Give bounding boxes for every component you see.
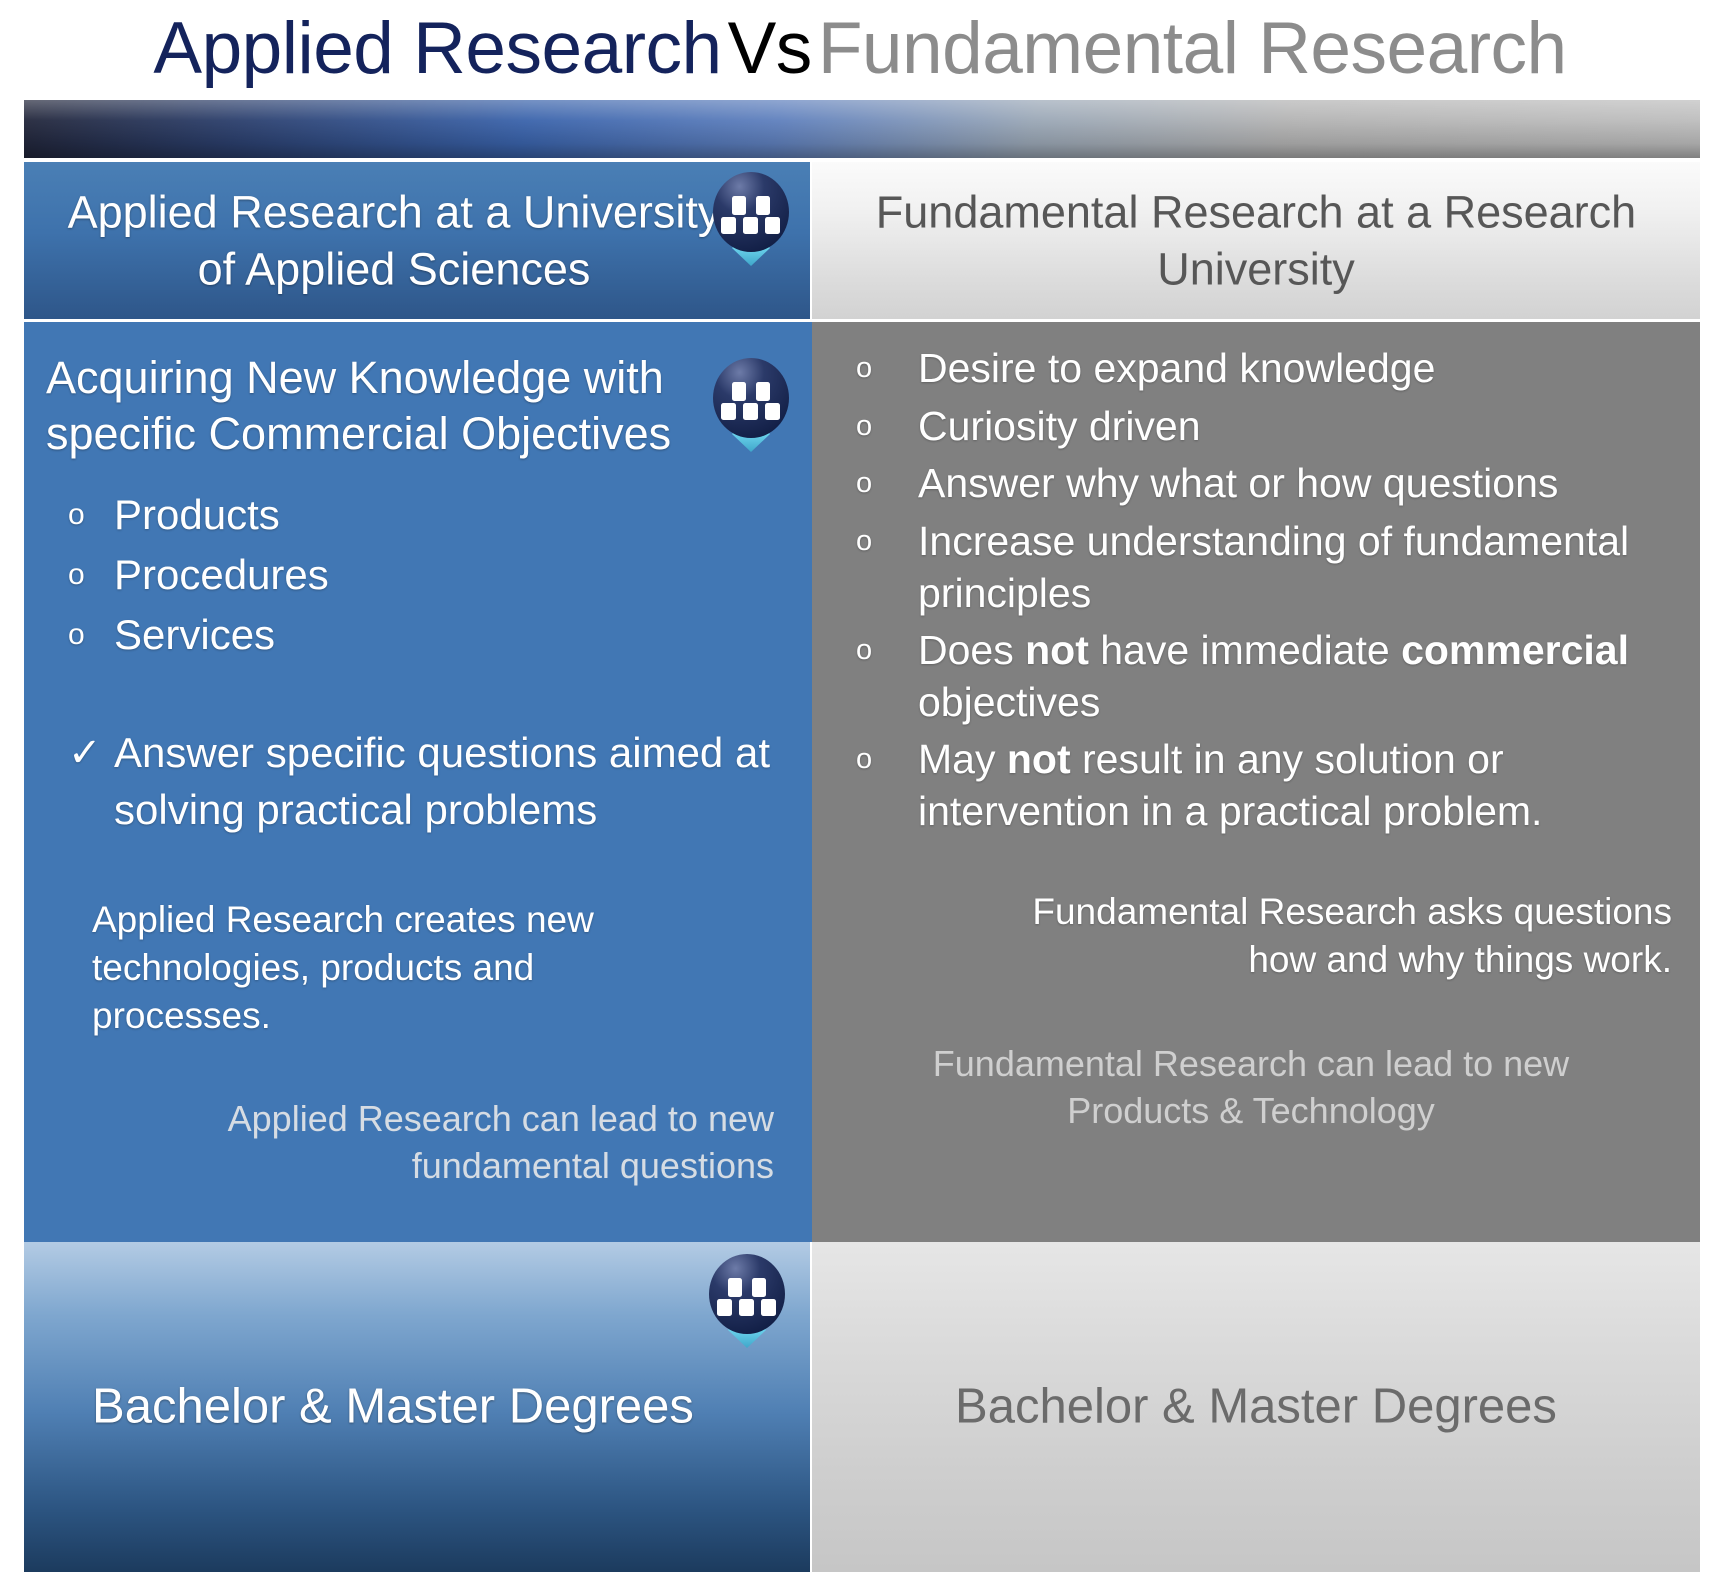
fundamental-research-bullet-list: oDesire to expand knowledgeoCuriosity dr… xyxy=(838,342,1684,838)
checkmark-icon: ✓ xyxy=(46,725,114,782)
applied-research-degrees-label: Bachelor & Master Degrees xyxy=(24,1378,810,1437)
applied-research-paragraph: Applied Research creates new technologie… xyxy=(46,896,792,1040)
fundamental-research-header-title: Fundamental Research at a Research Unive… xyxy=(812,183,1700,298)
list-item: oProducts xyxy=(46,486,792,544)
applied-research-header-panel: Applied Research at a University of Appl… xyxy=(24,162,810,319)
applied-research-body-panel: Acquiring New Knowledge with specific Co… xyxy=(24,322,810,1242)
bullet-circle-icon: o xyxy=(838,400,918,454)
list-item-label: Services xyxy=(114,606,792,664)
applied-research-footer-panel: Bachelor & Master Degrees xyxy=(24,1242,810,1572)
fundamental-research-tail-note: Fundamental Research can lead to new Pro… xyxy=(838,1040,1684,1135)
fundamental-research-header-panel: Fundamental Research at a Research Unive… xyxy=(812,162,1700,319)
fundamental-research-degrees-label: Bachelor & Master Degrees xyxy=(812,1378,1700,1437)
page-title: Applied Research Vs Fundamental Research xyxy=(0,0,1720,96)
list-item: oMay not result in any solution or inter… xyxy=(838,733,1684,838)
emphasis-text: not xyxy=(1007,736,1071,782)
applied-research-tail-note: Applied Research can lead to new fundame… xyxy=(46,1096,792,1190)
list-item: oProcedures xyxy=(46,546,792,604)
bullet-circle-icon: o xyxy=(46,606,114,663)
university-logo-icon xyxy=(712,358,790,458)
title-applied: Applied Research xyxy=(153,12,721,85)
plain-text: have immediate xyxy=(1089,627,1401,673)
bullet-circle-icon: o xyxy=(838,624,918,678)
list-item-label: May not result in any solution or interv… xyxy=(918,733,1684,838)
university-logo-icon xyxy=(712,172,790,272)
list-item-label: Answer specific questions aimed at solvi… xyxy=(114,725,792,838)
list-item: oIncrease understanding of fundamental p… xyxy=(838,515,1684,620)
list-item-label: Increase understanding of fundamental pr… xyxy=(918,515,1684,620)
list-item: oCuriosity driven xyxy=(838,400,1684,454)
applied-research-bullet-list: oProductsoProceduresoServices xyxy=(46,486,792,664)
title-fundamental: Fundamental Research xyxy=(818,12,1567,85)
list-item: oDesire to expand knowledge xyxy=(838,342,1684,396)
fundamental-research-body-panel: oDesire to expand knowledgeoCuriosity dr… xyxy=(812,322,1700,1242)
list-item-label: Desire to expand knowledge xyxy=(918,342,1684,394)
bullet-circle-icon: o xyxy=(838,342,918,396)
emphasis-text: commercial xyxy=(1401,627,1629,673)
plain-text: May xyxy=(918,736,1007,782)
list-item: oAnswer why what or how questions xyxy=(838,457,1684,511)
applied-research-check-list: ✓Answer specific questions aimed at solv… xyxy=(46,725,792,838)
bullet-circle-icon: o xyxy=(46,486,114,543)
fundamental-research-footer-panel: Bachelor & Master Degrees xyxy=(812,1242,1700,1572)
emphasis-text: not xyxy=(1025,627,1089,673)
applied-research-header-title: Applied Research at a University of Appl… xyxy=(24,183,810,298)
list-item-label: Curiosity driven xyxy=(918,400,1684,452)
plain-text: Does xyxy=(918,627,1025,673)
university-logo-icon xyxy=(708,1254,786,1354)
fundamental-research-paragraph: Fundamental Research asks questions how … xyxy=(838,888,1684,984)
list-item-label: Answer why what or how questions xyxy=(918,457,1684,509)
bullet-circle-icon: o xyxy=(46,546,114,603)
list-item-label: Does not have immediate commercial objec… xyxy=(918,624,1684,729)
bullet-circle-icon: o xyxy=(838,457,918,511)
bullet-circle-icon: o xyxy=(838,733,918,787)
bullet-circle-icon: o xyxy=(838,515,918,569)
decorative-gradient-band xyxy=(24,100,1700,158)
list-item: ✓Answer specific questions aimed at solv… xyxy=(46,725,792,838)
list-item: oServices xyxy=(46,606,792,664)
plain-text: objectives xyxy=(918,679,1100,725)
list-item: oDoes not have immediate commercial obje… xyxy=(838,624,1684,729)
title-vs: Vs xyxy=(722,12,818,85)
applied-research-lead: Acquiring New Knowledge with specific Co… xyxy=(46,350,792,462)
list-item-label: Procedures xyxy=(114,546,792,604)
list-item-label: Products xyxy=(114,486,792,544)
